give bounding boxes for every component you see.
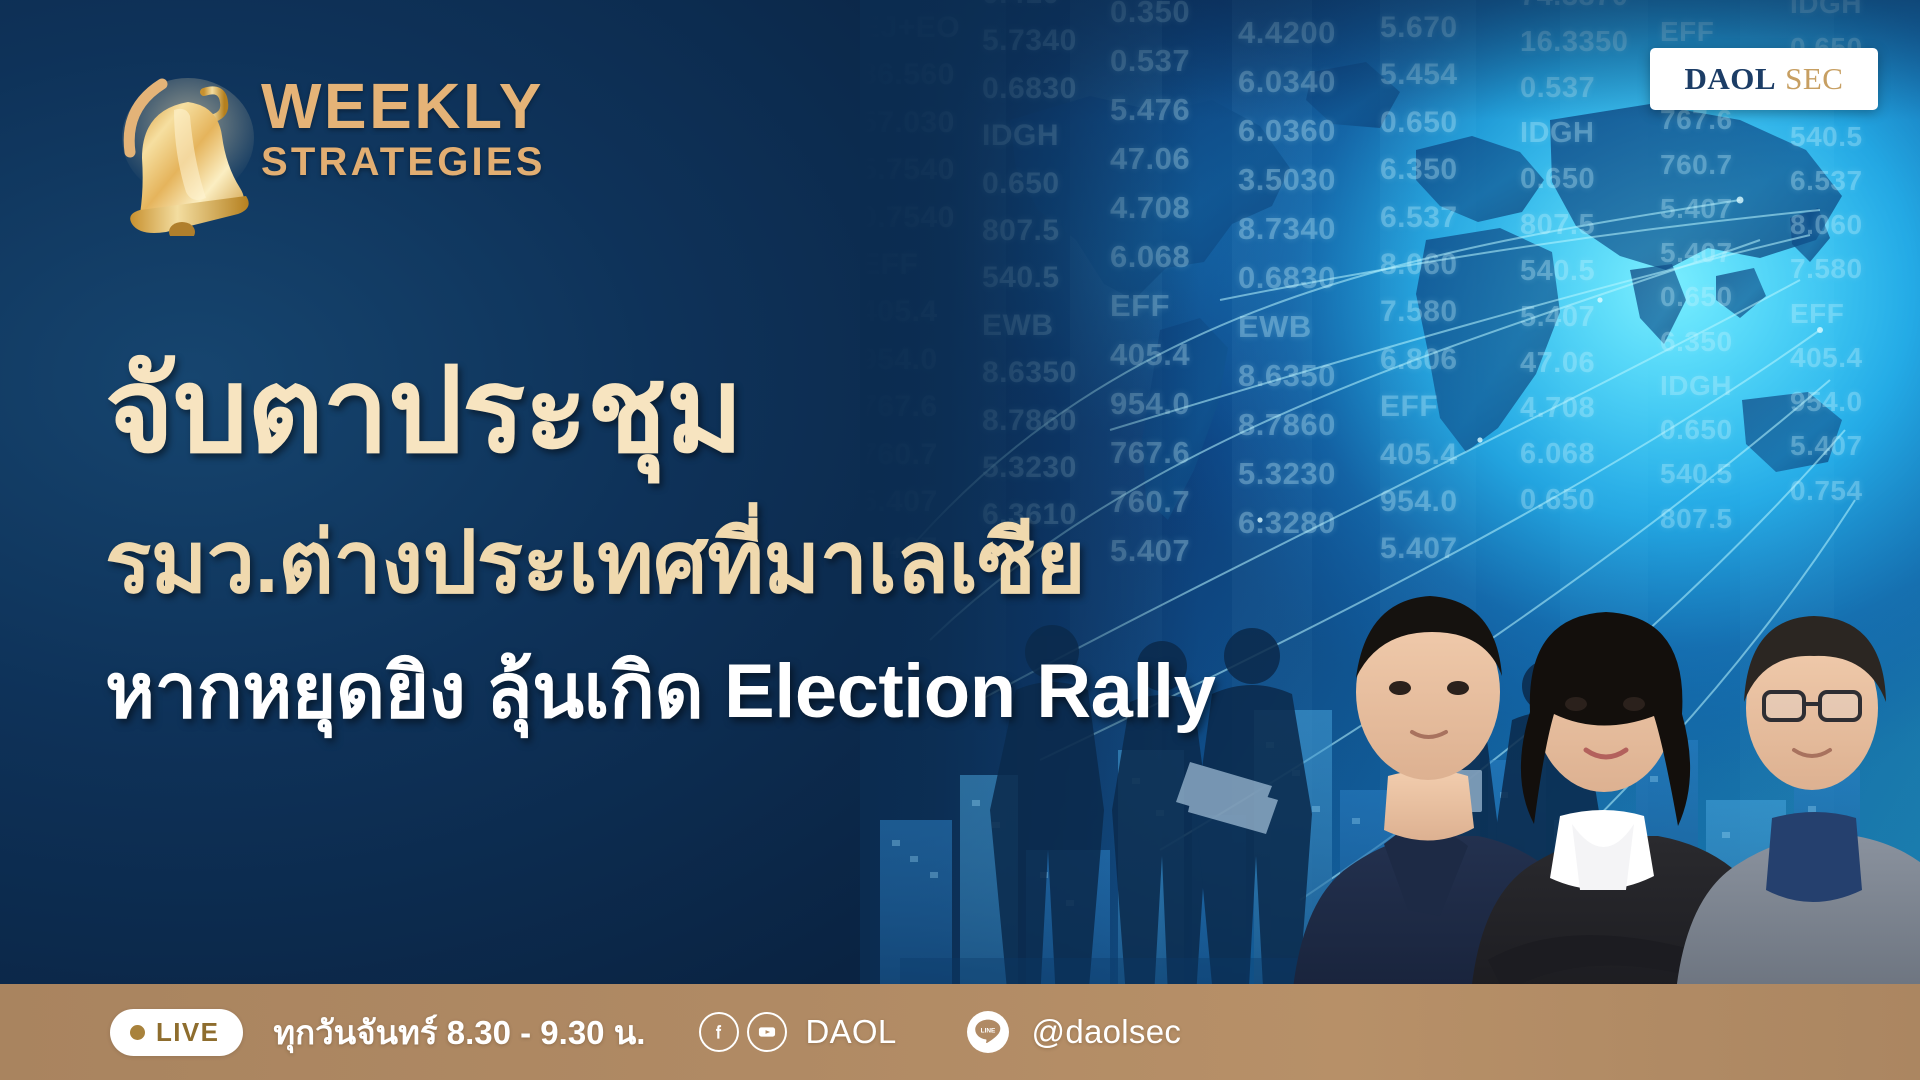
show-logo-lockup: WEEKLY STRATEGIES — [96, 52, 596, 242]
headline-line-1: จับตาประชุม — [105, 352, 1355, 470]
logo-daol-text: DAOL — [1685, 61, 1777, 97]
daolsec-logo: DAOL SEC — [1650, 48, 1878, 110]
analyst-photos — [1260, 420, 1920, 1080]
bell-icon — [96, 66, 256, 236]
social-daol-group[interactable]: DAOL — [699, 1012, 896, 1052]
facebook-icon[interactable] — [699, 1012, 739, 1052]
analysts-svg — [1260, 420, 1920, 1080]
social-line-group[interactable]: LINE @daolsec — [967, 1011, 1182, 1053]
live-badge: LIVE — [110, 1009, 243, 1056]
wordmark-strategies: STRATEGIES — [261, 141, 546, 183]
line-glyph: LINE — [971, 1015, 1005, 1049]
logo-sec-text: SEC — [1785, 61, 1843, 97]
headline-line-3: หากหยุดยิง ลุ้นเกิด Election Rally — [105, 654, 1355, 730]
live-label: LIVE — [156, 1017, 219, 1048]
line-id: @daolsec — [1032, 1013, 1182, 1051]
facebook-glyph — [709, 1022, 729, 1042]
youtube-glyph — [756, 1021, 778, 1043]
line-icon[interactable]: LINE — [967, 1011, 1009, 1053]
schedule-text: ทุกวันจันทร์ 8.30 - 9.30 น. — [273, 1006, 645, 1059]
wordmark-weekly: WEEKLY — [261, 76, 546, 137]
footer-bar: LIVE ทุกวันจันทร์ 8.30 - 9.30 น. DAOL — [0, 984, 1920, 1080]
weekly-strategies-banner: EJ+EO 86.560 57.030 5.7540 0.7540 EFF 40… — [0, 0, 1920, 1080]
headline-block: จับตาประชุม รมว.ต่างประเทศที่มาเลเซีย หา… — [105, 352, 1355, 730]
headline-line-2: รมว.ต่างประเทศที่มาเลเซีย — [105, 520, 1355, 606]
show-wordmark: WEEKLY STRATEGIES — [261, 76, 546, 183]
live-dot-icon — [130, 1025, 145, 1040]
channel-name: DAOL — [805, 1013, 896, 1051]
svg-text:LINE: LINE — [980, 1027, 995, 1034]
youtube-icon[interactable] — [747, 1012, 787, 1052]
